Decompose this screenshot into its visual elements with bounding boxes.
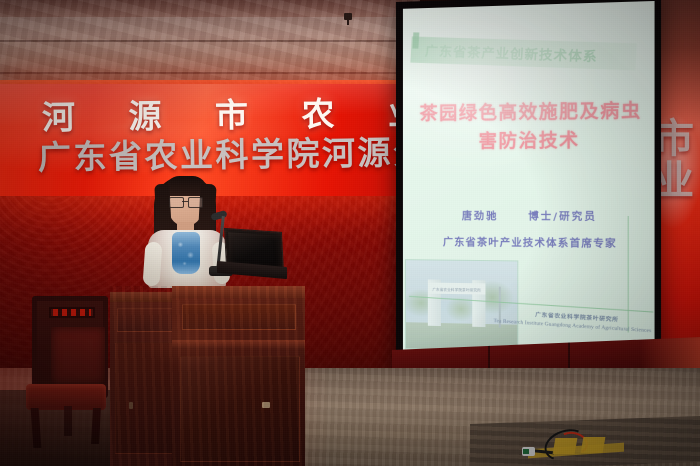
laptop — [217, 230, 285, 282]
podium-ledge — [172, 340, 305, 349]
podium-left-top-edge — [110, 292, 180, 302]
screen-surface: 广东省茶产业创新技术体系 茶园绿色高效施肥及病虫 害防治技术 唐劲驰 博士/研究… — [403, 1, 655, 379]
wall-top-band — [0, 0, 420, 17]
cable-tape-patch — [553, 438, 578, 454]
chair-lattice-detail — [49, 307, 95, 318]
slide-title: 茶园绿色高效施肥及病虫 害防治技术 — [411, 97, 651, 157]
cable-plug — [522, 447, 535, 456]
podium-hinge — [129, 402, 133, 409]
stone-wall-upper — [0, 0, 420, 84]
podium-door-panel — [180, 356, 300, 462]
microphone-head — [210, 210, 227, 221]
chair-leg — [64, 406, 72, 436]
podium-left-panel — [117, 308, 175, 332]
wall-seam — [0, 40, 420, 42]
slide-presenter-line: 唐劲驰 博士/研究员 — [411, 207, 651, 223]
cable-tape-patch — [581, 437, 606, 453]
chair-backrest — [32, 296, 108, 398]
glasses-lens-right — [188, 197, 203, 208]
wall-seam — [0, 72, 420, 74]
slide-header-tick — [412, 32, 419, 48]
podium-left-lower-panel — [115, 342, 177, 454]
podium-handle — [262, 402, 270, 408]
presenter-name: 唐劲驰 — [462, 211, 499, 222]
arm-left — [142, 241, 162, 286]
chair-back-cushion — [51, 327, 105, 385]
blue-patterned-top — [172, 232, 200, 274]
projection-screen: 广东省茶产业创新技术体系 茶园绿色高效施肥及病虫 害防治技术 唐劲驰 博士/研究… — [396, 0, 661, 387]
eyeglasses — [169, 197, 202, 206]
podium-upper-panel — [182, 304, 296, 330]
ceiling-hook — [344, 13, 352, 20]
slide-title-line-2: 害防治技术 — [411, 126, 651, 156]
conference-photo-scene: 河 源 市 农 业 局 广东省农业科学院河源分院 市 业 广东省茶产业创新技术体… — [0, 0, 700, 466]
presenter-affiliation: 广东省茶叶产业技术体系首席专家 — [411, 233, 651, 250]
wooden-podium — [110, 286, 305, 466]
chair-leg — [91, 408, 101, 444]
podium-top-edge — [172, 286, 305, 298]
glasses-lens-left — [169, 197, 184, 208]
slide-title-line-1: 茶园绿色高效施肥及病虫 — [411, 97, 651, 129]
banner-line-1: 河 源 市 农 业 局 — [42, 95, 420, 134]
wooden-chair — [24, 296, 110, 446]
presenter-credential: 博士/研究员 — [528, 211, 597, 223]
chair-leg — [31, 408, 42, 448]
photo-gate-caption: 广东省农业科学院茶叶研究所 — [430, 287, 484, 293]
floor-cables — [528, 428, 668, 462]
slide-gate-photo: 广东省农业科学院茶叶研究所 — [405, 259, 518, 352]
banner-line-2: 广东省农业科学院河源分院 — [38, 135, 420, 174]
